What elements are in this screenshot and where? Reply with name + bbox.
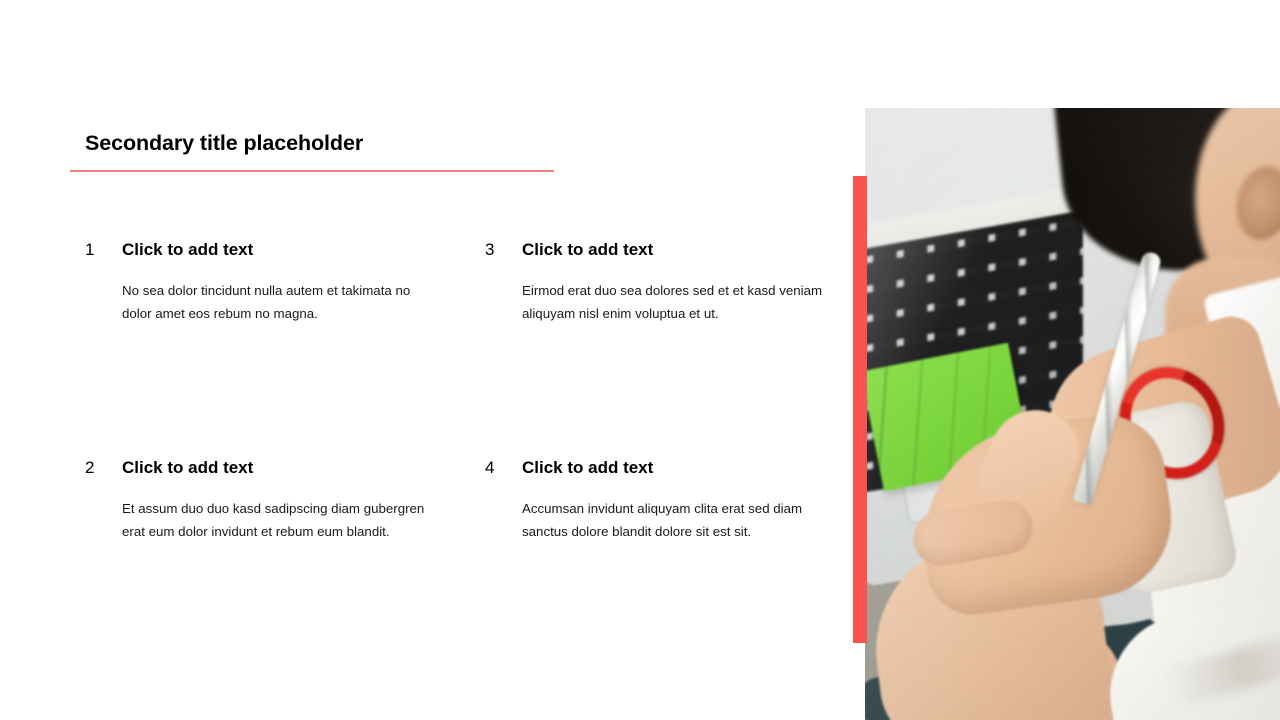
item-body: Click to add text Eirmod erat duo sea do… xyxy=(522,238,842,325)
item-heading[interactable]: Click to add text xyxy=(522,456,842,480)
content-row-bottom: 2 Click to add text Et assum duo duo kas… xyxy=(0,456,860,543)
content-item-3[interactable]: 3 Click to add text Eirmod erat duo sea … xyxy=(0,238,485,456)
photo-panel xyxy=(865,108,1280,720)
content-item-4[interactable]: 4 Click to add text Accumsan invidunt al… xyxy=(0,456,485,543)
content-row-top: 1 Click to add text No sea dolor tincidu… xyxy=(0,238,860,456)
title-underline-rule xyxy=(70,170,554,172)
item-heading[interactable]: Click to add text xyxy=(522,238,842,262)
item-description[interactable]: Accumsan invidunt aliquyam clita erat se… xyxy=(522,498,842,543)
item-number: 4 xyxy=(485,456,522,480)
content-grid: 1 Click to add text No sea dolor tincidu… xyxy=(0,238,860,543)
page-title[interactable]: Secondary title placeholder xyxy=(70,128,554,158)
slide-canvas: Secondary title placeholder 1 Click to a… xyxy=(0,0,1280,720)
accent-bar xyxy=(853,176,867,643)
title-block: Secondary title placeholder xyxy=(70,128,554,172)
item-number: 3 xyxy=(485,238,522,262)
item-body: Click to add text Accumsan invidunt aliq… xyxy=(522,456,842,543)
item-description[interactable]: Eirmod erat duo sea dolores sed et et ka… xyxy=(522,280,842,325)
